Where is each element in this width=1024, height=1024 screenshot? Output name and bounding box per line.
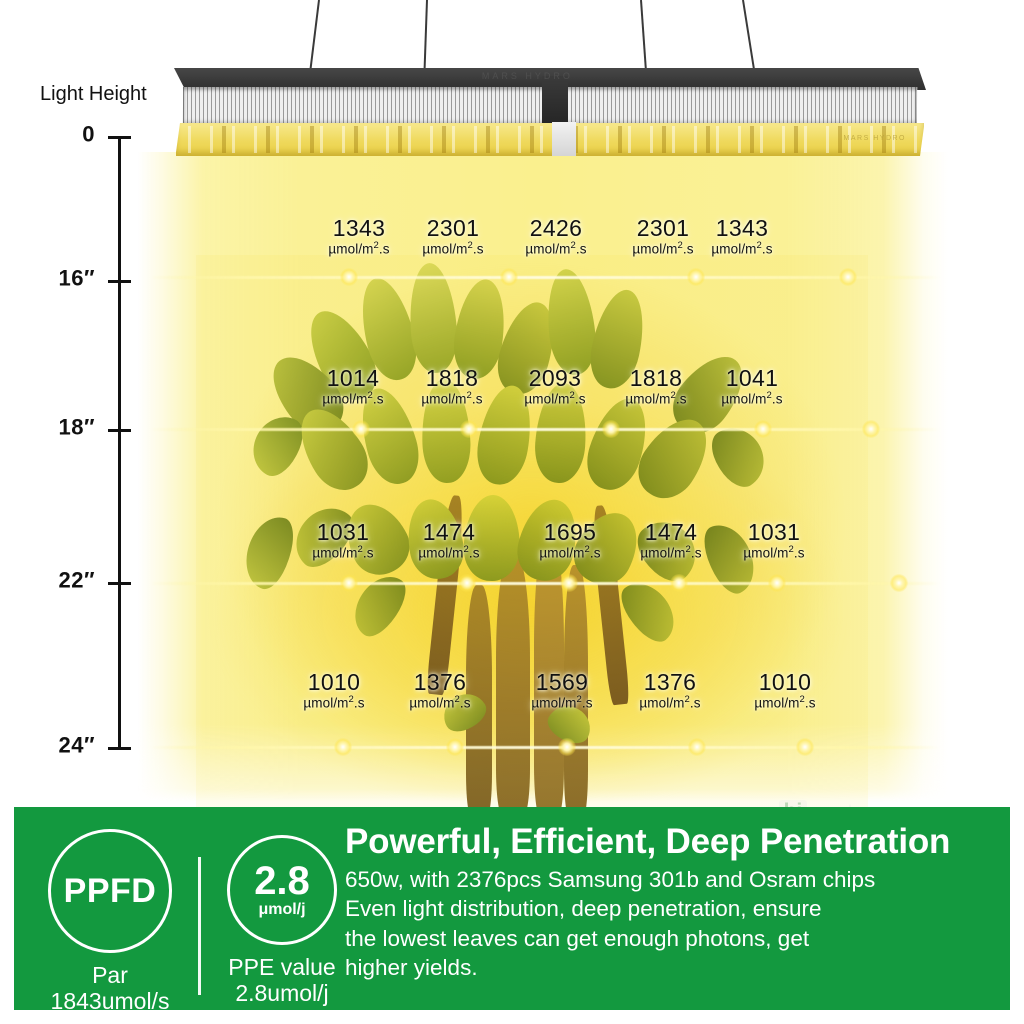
ppfd-reading: 1010µmol/m2.s (754, 670, 815, 713)
ppfd-reading-value: 2426 (525, 216, 586, 240)
ppfd-reading-unit: µmol/m2.s (525, 240, 586, 258)
badge-group: PPFD Par 1843umol/s 2.8 μmol/j PPE value… (14, 807, 337, 1010)
ppfd-reading-value: 1031 (743, 520, 804, 544)
plant-leaf (238, 510, 301, 593)
fixture-brand-label-small: MARS HYDRO (844, 135, 906, 142)
ppfd-reading: 2301µmol/m2.s (632, 216, 693, 259)
ppfd-reading-value: 1376 (639, 670, 700, 694)
ppfd-reading-value: 1031 (312, 520, 373, 544)
ppfd-reading-unit: µmol/m2.s (743, 544, 804, 562)
ppfd-reading-value: 1474 (640, 520, 701, 544)
ppfd-caption-line1: Par (51, 962, 170, 988)
fixture-center-mount (542, 76, 568, 126)
ppfd-reading-unit: µmol/m2.s (312, 544, 373, 562)
ppfd-reading-unit: µmol/m2.s (539, 544, 600, 562)
axis-tick (108, 280, 131, 283)
axis-tick-label-18: 18″ (58, 414, 95, 440)
ppfd-reading-unit: µmol/m2.s (409, 694, 470, 712)
hanging-cable (640, 0, 647, 76)
hanging-cable (423, 0, 428, 74)
ppe-badge-circle: 2.8 μmol/j (227, 835, 337, 945)
banner-subcopy-line: the lowest leaves can get enough photons… (345, 924, 1000, 953)
ppfd-reading: 1376µmol/m2.s (639, 670, 700, 713)
axis-tick (108, 747, 131, 750)
ppe-badge-value: 2.8 (254, 862, 310, 900)
ppfd-reading: 1376µmol/m2.s (409, 670, 470, 713)
ppfd-reading: 2301µmol/m2.s (422, 216, 483, 259)
banner-subcopy-line: higher yields. (345, 953, 1000, 982)
ppfd-reading-unit: µmol/m2.s (639, 694, 700, 712)
led-grow-light-fixture: MARS HYDRO MARS HYDRO (174, 68, 926, 156)
plant-leaf (703, 418, 775, 495)
fixture-led-board (176, 123, 925, 156)
fixture-brand-label: MARS HYDRO (482, 71, 573, 81)
ppfd-reading-unit: µmol/m2.s (422, 240, 483, 258)
light-height-ruler: 0 16″ 18″ 22″ 24″ (118, 136, 121, 750)
ppfd-reading: 1041µmol/m2.s (721, 366, 782, 409)
ppfd-reading-unit: µmol/m2.s (632, 240, 693, 258)
ppfd-reading: 1569µmol/m2.s (531, 670, 592, 713)
ppfd-reading-value: 2093 (524, 366, 585, 390)
ppfd-reading: 1010µmol/m2.s (303, 670, 364, 713)
ppfd-reading-value: 1014 (322, 366, 383, 390)
ppfd-reading-value: 1695 (539, 520, 600, 544)
plant-leaf (613, 573, 685, 650)
axis-title: Light Height (40, 83, 147, 106)
ppfd-reading-value: 2301 (632, 216, 693, 240)
ppfd-reading-value: 1041 (721, 366, 782, 390)
fixture-connector (552, 122, 576, 156)
ppfd-reading-value: 1343 (328, 216, 389, 240)
ppfd-reading-value: 1010 (754, 670, 815, 694)
plant-leaf (344, 566, 414, 643)
ppfd-reading-value: 2301 (422, 216, 483, 240)
banner-subcopy-line: 650w, with 2376pcs Samsung 301b and Osra… (345, 865, 1000, 894)
ppfd-reading-unit: µmol/m2.s (711, 240, 772, 258)
banner-headline: Powerful, Efficient, Deep Penetration (345, 823, 1000, 860)
ppfd-reading-unit: µmol/m2.s (625, 390, 686, 408)
ppfd-reading-value: 1376 (409, 670, 470, 694)
ppe-caption-line2: 2.8umol/j (228, 980, 335, 1006)
ppfd-reading-unit: µmol/m2.s (328, 240, 389, 258)
axis-tick-label-16: 16″ (58, 265, 95, 291)
ppfd-reading: 1343µmol/m2.s (711, 216, 772, 259)
axis-tick-label-22: 22″ (58, 567, 95, 593)
ppfd-badge-label: PPFD (64, 872, 157, 911)
ppfd-reading-unit: µmol/m2.s (303, 694, 364, 712)
ppfd-reading-unit: µmol/m2.s (531, 694, 592, 712)
ppfd-reading-unit: µmol/m2.s (322, 390, 383, 408)
ppfd-reading-value: 1818 (421, 366, 482, 390)
banner-subcopy-line: Even light distribution, deep penetratio… (345, 894, 1000, 923)
ppfd-reading: 2426µmol/m2.s (525, 216, 586, 259)
ppfd-caption-line2: 1843umol/s (51, 988, 170, 1014)
ppfd-reading: 1031µmol/m2.s (312, 520, 373, 563)
badge-divider (198, 857, 201, 995)
axis-tick-label-24: 24″ (58, 732, 95, 758)
ppfd-reading-unit: µmol/m2.s (754, 694, 815, 712)
banner-copy: Powerful, Efficient, Deep Penetration 65… (337, 807, 1010, 1010)
ppfd-reading: 1818µmol/m2.s (625, 366, 686, 409)
banner-subcopy: 650w, with 2376pcs Samsung 301b and Osra… (345, 865, 1000, 982)
ppfd-reading-value: 1474 (418, 520, 479, 544)
ppfd-reading-unit: µmol/m2.s (421, 390, 482, 408)
ppfd-reading-unit: µmol/m2.s (640, 544, 701, 562)
ppfd-badge-caption: Par 1843umol/s (51, 962, 170, 1014)
ppfd-reading: 1031µmol/m2.s (743, 520, 804, 563)
ppe-badge-unit: μmol/j (258, 901, 305, 919)
ppfd-badge-circle: PPFD (48, 829, 172, 953)
ppfd-reading: 1818µmol/m2.s (421, 366, 482, 409)
ppe-badge: 2.8 μmol/j PPE value 2.8umol/j (227, 835, 337, 1006)
ppfd-light-distribution-infographic: MARS HYDRO MARS HYDRO Light Height (0, 0, 1024, 1024)
ppe-badge-caption: PPE value 2.8umol/j (228, 954, 335, 1006)
ppfd-reading: 1343µmol/m2.s (328, 216, 389, 259)
axis-tick (108, 136, 131, 139)
ppfd-reading: 1474µmol/m2.s (418, 520, 479, 563)
ppfd-badge: PPFD Par 1843umol/s (48, 829, 172, 1014)
ppfd-reading: 1474µmol/m2.s (640, 520, 701, 563)
ppfd-reading-unit: µmol/m2.s (524, 390, 585, 408)
axis-tick (108, 582, 131, 585)
ppfd-reading-value: 1343 (711, 216, 772, 240)
ppfd-reading-value: 1818 (625, 366, 686, 390)
ppfd-reading-unit: µmol/m2.s (418, 544, 479, 562)
ppfd-reading-value: 1010 (303, 670, 364, 694)
ppfd-reading-unit: µmol/m2.s (721, 390, 782, 408)
ppfd-reading: 1014µmol/m2.s (322, 366, 383, 409)
ppfd-reading-value: 1569 (531, 670, 592, 694)
hanging-cable (309, 0, 320, 78)
axis-tick (108, 429, 131, 432)
ppe-caption-line1: PPE value (228, 954, 335, 980)
plant-stem (496, 555, 530, 815)
ppfd-reading: 2093µmol/m2.s (524, 366, 585, 409)
axis-tick-label-0: 0 (82, 121, 95, 147)
ppfd-reading: 1695µmol/m2.s (539, 520, 600, 563)
feature-banner: PPFD Par 1843umol/s 2.8 μmol/j PPE value… (14, 807, 1010, 1010)
